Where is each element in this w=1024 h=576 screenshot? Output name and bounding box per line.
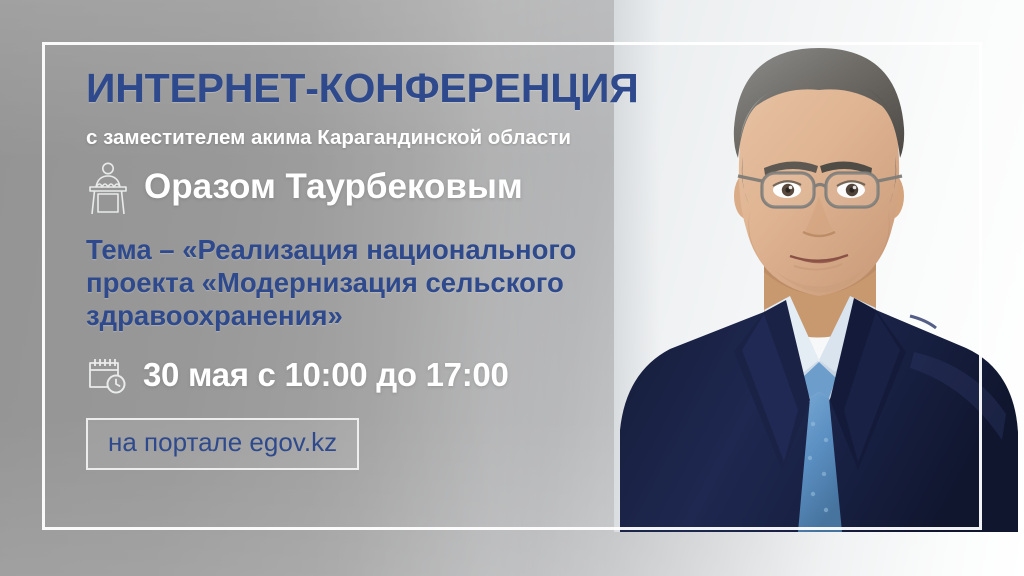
- conference-announcement-banner: ИНТЕРНЕТ-КОНФЕРЕНЦИЯ с заместителем аким…: [0, 0, 1024, 576]
- content-column: ИНТЕРНЕТ-КОНФЕРЕНЦИЯ с заместителем аким…: [86, 66, 686, 470]
- speaker-name: Оразом Таурбековым: [144, 169, 523, 206]
- speaker-row: Оразом Таурбековым: [86, 161, 686, 215]
- portal-link-button[interactable]: на портале egov.kz: [86, 418, 359, 470]
- date-row: 30 мая с 10:00 до 17:00: [86, 354, 686, 396]
- conference-theme: Тема – «Реализация национального проекта…: [86, 233, 666, 332]
- calendar-clock-icon: [86, 354, 128, 396]
- date-time-text: 30 мая с 10:00 до 17:00: [143, 356, 509, 394]
- page-title: ИНТЕРНЕТ-КОНФЕРЕНЦИЯ: [86, 66, 686, 110]
- podium-speaker-icon: [86, 161, 130, 215]
- subtitle: с заместителем акима Карагандинской обла…: [86, 126, 686, 151]
